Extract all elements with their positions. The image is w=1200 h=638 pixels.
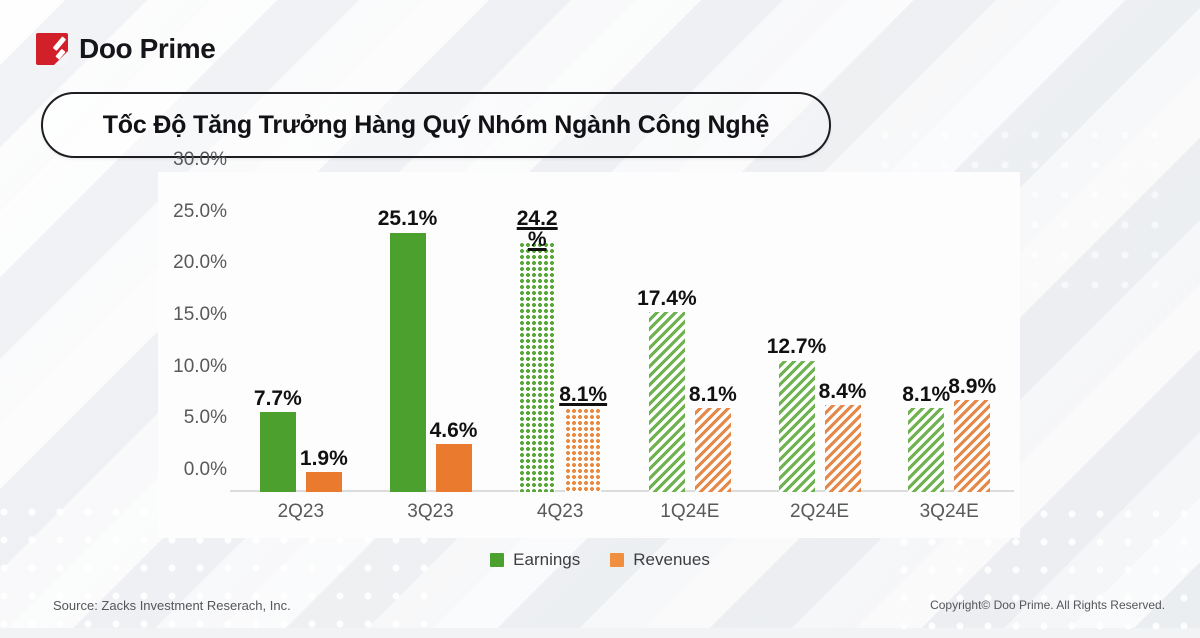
bar-rect[interactable]: 24.2%: [519, 242, 555, 492]
bar-earnings[interactable]: 8.1%: [908, 182, 944, 492]
bar-value-label: 24.2%: [508, 208, 566, 251]
y-axis-tick-label: 0.0%: [184, 459, 227, 481]
bar-value-label: 8.1%: [689, 384, 737, 405]
bar-value-label: 1.9%: [300, 448, 348, 469]
y-axis-tick-label: 25.0%: [173, 201, 227, 223]
bar-rect[interactable]: 8.4%: [825, 405, 861, 492]
bar-value-label: 8.1%: [559, 384, 607, 405]
bar-group: 8.1%8.9%3Q24E: [884, 182, 1014, 492]
bar-revenues[interactable]: 8.1%: [695, 182, 731, 492]
bar-earnings[interactable]: 24.2%: [519, 182, 555, 492]
bar-rect[interactable]: 4.6%: [436, 444, 472, 492]
bar-revenues[interactable]: 8.9%: [954, 182, 990, 492]
legend-item-revenues[interactable]: Revenues: [610, 550, 710, 570]
bar-rect[interactable]: 12.7%: [779, 361, 815, 492]
bar-earnings[interactable]: 7.7%: [260, 182, 296, 492]
bar-rect[interactable]: 1.9%: [306, 472, 342, 492]
bar-rect[interactable]: 17.4%: [649, 312, 685, 492]
page-title: Tốc Độ Tăng Trưởng Hàng Quý Nhóm Ngành C…: [103, 111, 770, 140]
bar-rect[interactable]: 25.1%: [390, 233, 426, 492]
legend-item-earnings[interactable]: Earnings: [490, 550, 580, 570]
bar-rect[interactable]: 8.9%: [954, 400, 990, 492]
bar-group: 24.2%8.1%4Q23: [495, 182, 625, 492]
bar-value-label: 7.7%: [254, 388, 302, 409]
x-axis-tick-label: 1Q24E: [660, 501, 719, 523]
bar-earnings[interactable]: 12.7%: [779, 182, 815, 492]
y-axis-tick-label: 5.0%: [184, 407, 227, 429]
bar-earnings[interactable]: 25.1%: [390, 182, 426, 492]
x-axis-tick-label: 4Q23: [537, 501, 583, 523]
y-axis-tick-label: 15.0%: [173, 304, 227, 326]
legend-swatch-icon: [610, 553, 624, 567]
bar-value-label: 12.7%: [767, 336, 827, 357]
legend-swatch-icon: [490, 553, 504, 567]
bar-value-label: 17.4%: [637, 288, 697, 309]
bar-group: 25.1%4.6%3Q23: [366, 182, 496, 492]
doo-prime-logo-icon: [36, 33, 68, 65]
bar-group: 7.7%1.9%2Q23: [236, 182, 366, 492]
bar-value-label: 4.6%: [430, 420, 478, 441]
bar-rect[interactable]: 8.1%: [565, 408, 601, 492]
legend-label: Revenues: [633, 550, 710, 570]
bar-revenues[interactable]: 8.4%: [825, 182, 861, 492]
footer-source-text: Source: Zacks Investment Reserach, Inc.: [53, 598, 291, 613]
bar-value-label: 8.1%: [902, 384, 950, 405]
bar-group: 17.4%8.1%1Q24E: [625, 182, 755, 492]
bar-rect[interactable]: 7.7%: [260, 412, 296, 492]
x-axis-tick-label: 3Q23: [407, 501, 453, 523]
x-axis-tick-label: 2Q24E: [790, 501, 849, 523]
footer-copyright-text: Copyright© Doo Prime. All Rights Reserve…: [930, 598, 1165, 612]
bar-revenues[interactable]: 1.9%: [306, 182, 342, 492]
x-axis-tick-label: 3Q24E: [920, 501, 979, 523]
chart-plot-area: 0.0%5.0%10.0%15.0%20.0%25.0%30.0% 7.7%1.…: [236, 182, 1014, 492]
bar-revenues[interactable]: 8.1%: [565, 182, 601, 492]
bar-revenues[interactable]: 4.6%: [436, 182, 472, 492]
chart-panel: 0.0%5.0%10.0%15.0%20.0%25.0%30.0% 7.7%1.…: [158, 172, 1020, 538]
y-axis-tick-label: 30.0%: [173, 149, 227, 171]
bar-rect[interactable]: 8.1%: [695, 408, 731, 492]
y-axis-tick-label: 20.0%: [173, 252, 227, 274]
y-axis-tick-label: 10.0%: [173, 356, 227, 378]
brand-logo: Doo Prime: [36, 33, 215, 65]
bar-rect[interactable]: 8.1%: [908, 408, 944, 492]
x-axis-tick-label: 2Q23: [278, 501, 324, 523]
page-title-banner: Tốc Độ Tăng Trưởng Hàng Quý Nhóm Ngành C…: [41, 92, 831, 158]
bar-group: 12.7%8.4%2Q24E: [755, 182, 885, 492]
bar-groups: 7.7%1.9%2Q2325.1%4.6%3Q2324.2%8.1%4Q2317…: [236, 182, 1014, 492]
brand-name: Doo Prime: [79, 33, 215, 65]
chart-legend: EarningsRevenues: [0, 550, 1200, 570]
bar-value-label: 8.9%: [948, 376, 996, 397]
legend-label: Earnings: [513, 550, 580, 570]
bar-earnings[interactable]: 17.4%: [649, 182, 685, 492]
bar-value-label: 25.1%: [378, 208, 438, 229]
bar-value-label: 8.4%: [819, 381, 867, 402]
